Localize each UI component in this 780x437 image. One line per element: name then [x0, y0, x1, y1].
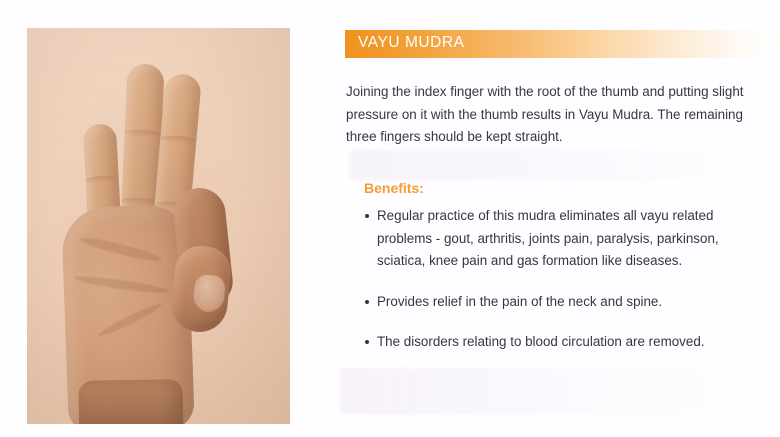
hand-illustration	[27, 28, 290, 424]
list-item-text: The disorders relating to blood circulat…	[377, 334, 705, 349]
list-item-text: Provides relief in the pain of the neck …	[377, 294, 662, 309]
intro-paragraph: Joining the index finger with the root o…	[346, 81, 761, 149]
title-bar: VAYU MUDRA	[345, 30, 777, 58]
benefits-list: Regular practice of this mudra eliminate…	[364, 205, 764, 354]
content-column: VAYU MUDRA Joining the index finger with…	[345, 0, 780, 437]
list-item: Provides relief in the pain of the neck …	[364, 291, 764, 314]
bullet-icon	[365, 300, 369, 304]
list-item: The disorders relating to blood circulat…	[364, 331, 764, 354]
page-title: VAYU MUDRA	[358, 34, 465, 52]
bullet-icon	[365, 214, 369, 218]
list-item: Regular practice of this mudra eliminate…	[364, 205, 764, 273]
list-item-text: Regular practice of this mudra eliminate…	[377, 208, 719, 268]
bullet-icon	[365, 340, 369, 344]
benefits-heading: Benefits:	[364, 180, 424, 196]
mudra-photo	[27, 28, 290, 424]
wrist	[78, 379, 183, 424]
